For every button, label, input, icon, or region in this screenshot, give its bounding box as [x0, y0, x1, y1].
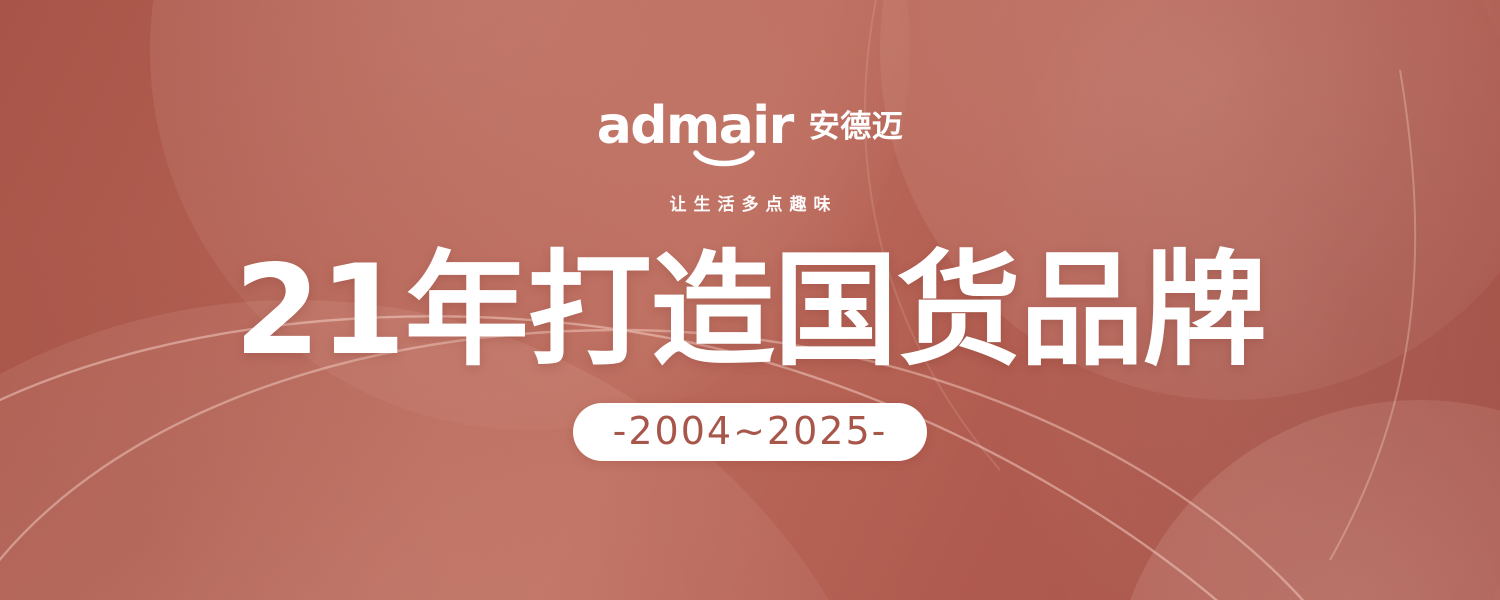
brand-logo: admair 安德迈	[597, 104, 904, 160]
logo-chinese-name: 安德迈	[809, 110, 904, 144]
banner-content: admair 安德迈 让生活多点趣味 21年打造国货品牌 -2004~2025-	[0, 0, 1500, 600]
logo-wordmark-wrap: admair	[597, 104, 793, 148]
promo-banner: admair 安德迈 让生活多点趣味 21年打造国货品牌 -2004~2025-	[0, 0, 1500, 600]
year-range-badge: -2004~2025-	[573, 403, 928, 461]
smile-curve-icon	[693, 150, 755, 168]
brand-tagline: 让生活多点趣味	[663, 190, 838, 215]
logo-wordmark: admair	[597, 104, 793, 148]
page-title: 21年打造国货品牌	[234, 249, 1266, 373]
